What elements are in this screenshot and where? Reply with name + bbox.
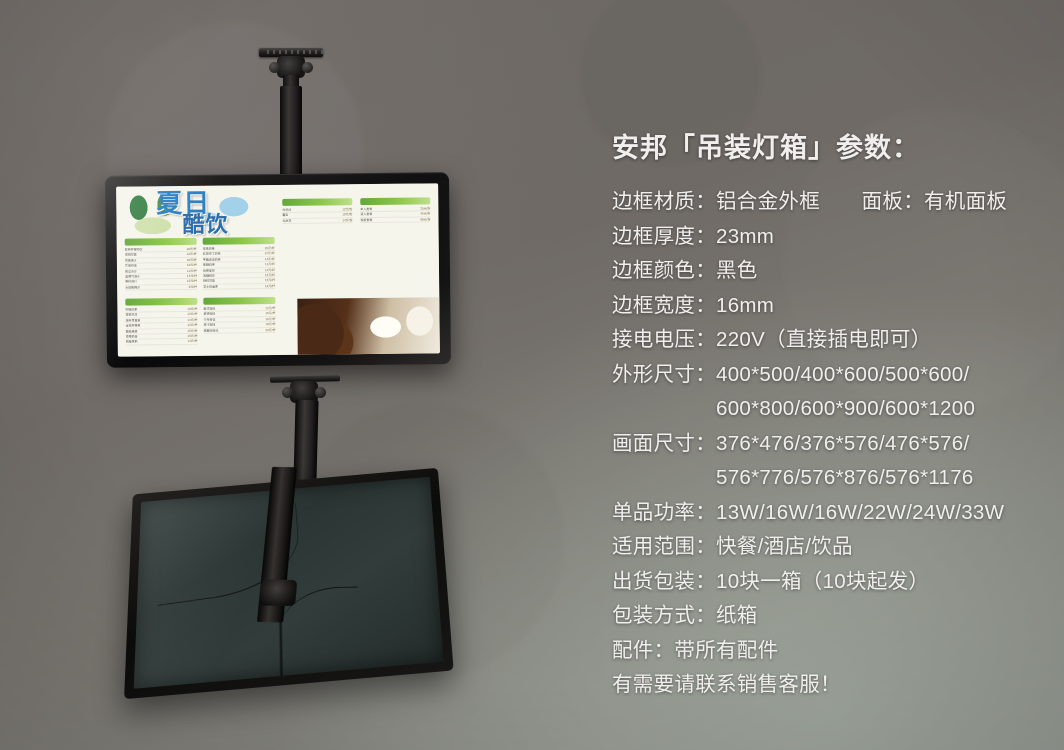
menu-item-name: 葡萄果茶 <box>126 329 138 334</box>
menu-item-price: 10元/杯 <box>187 258 197 263</box>
menu-item-price: 15元/杯 <box>265 311 275 316</box>
menu-item-name: 抹茶拿铁 <box>203 268 215 273</box>
spec-line: 外形尺寸：400*500/400*600/500*600/ <box>612 358 1042 393</box>
specification-block: 安邦「吊装灯箱」参数： 边框材质：铝合金外框 面板：有机面板边框厚度：23mm边… <box>612 126 1042 703</box>
menu-item-name: 芒果奶昔 <box>125 264 137 269</box>
lower-pivot-knob-left <box>282 387 293 398</box>
ceiling-mount-upper <box>255 48 327 188</box>
menu-item-name: 卡布奇诺 <box>203 317 215 322</box>
menu-item-price: 12元/杯 <box>265 251 275 256</box>
spec-line-list: 边框材质：铝合金外框 面板：有机面板边框厚度：23mm边框颜色：黑色边框宽度：1… <box>612 185 1042 703</box>
menu-section: 柠檬红茶10元/杯蜜桃乌龙12元/杯满杯百香果14元/杯金桔柠檬茶12元/杯葡萄… <box>125 298 197 346</box>
light-box-front: 夏日 酷饮 鲜榨柠檬特饮10元/杯蜜桃甘露12元/杯百香果汁10元/杯芒果奶昔1… <box>105 172 451 368</box>
menu-section: 美式咖啡12元/杯拿铁咖啡15元/杯卡布奇诺16元/杯摩卡咖啡18元/杯焦糖玛奇… <box>203 297 275 334</box>
menu-item-row: 鸡米花14元/份 <box>282 218 352 224</box>
pivot-knob-left <box>269 62 280 73</box>
menu-item-price: 12元/杯 <box>187 312 197 317</box>
menu-item-price: 10元/份 <box>342 213 352 218</box>
menu-hero-title-line2: 酷饮 <box>182 213 271 236</box>
spec-line: 边框材质：铝合金外框 面板：有机面板 <box>612 185 1042 220</box>
menu-item-name: 鲜榨柠檬特饮 <box>125 247 143 252</box>
mount-plate-holes-icon <box>267 50 323 54</box>
light-box-back-panel <box>124 468 454 699</box>
menu-item-row: 冰镇酸梅汤9元/杯 <box>125 285 197 291</box>
spec-line: 单品功率：13W/16W/16W/22W/24W/33W <box>612 496 1042 531</box>
spec-line: 画面尺寸：376*476/376*576/476*576/ <box>612 427 1042 462</box>
menu-item-price: 14元/杯 <box>265 257 275 262</box>
menu-item-price: 9元/杯 <box>189 285 198 289</box>
spec-line: 600*800/600*900/600*1200 <box>612 392 1042 427</box>
menu-item-price: 16元/杯 <box>265 284 275 289</box>
spec-title: 安邦「吊装灯箱」参数： <box>612 126 1042 165</box>
menu-item-name: 百香果汁 <box>125 258 137 263</box>
menu-item-name: 单人套餐 <box>360 207 372 212</box>
menu-section: 珍珠奶茶10元/杯红豆布丁奶茶12元/杯芋圆波波奶茶14元/杯焦糖奶茶11元/杯… <box>203 237 276 290</box>
menu-item-name: 芝士奶盖茶 <box>203 284 218 289</box>
menu-item-row: 芝士奶盖茶16元/杯 <box>203 284 275 290</box>
menu-item-name: 草莓奶昔 <box>126 335 138 340</box>
menu-item-price: 10元/杯 <box>187 307 197 312</box>
menu-item-price: 14元/份 <box>342 218 352 223</box>
menu-item-name: 冰镇酸梅汤 <box>125 285 140 290</box>
menu-item-price: 12元/杯 <box>187 252 197 257</box>
spec-line: 包装方式：纸箱 <box>612 599 1042 634</box>
menu-item-price: 16元/杯 <box>187 334 197 339</box>
menu-item-row: 家庭套餐68元/份 <box>360 217 430 223</box>
menu-item-price: 10元/杯 <box>187 247 197 252</box>
menu-item-price: 11元/杯 <box>187 268 197 273</box>
menu-item-name: 炸鸡块 <box>282 208 291 213</box>
menu-item-price: 14元/杯 <box>187 274 197 279</box>
spec-line: 配件：带所有配件 <box>612 634 1042 669</box>
menu-item-name: 焦糖玛奇朵 <box>204 328 219 333</box>
menu-item-price: 12元/杯 <box>187 323 197 328</box>
product-photo-stage: 夏日 酷饮 鲜榨柠檬特饮10元/杯蜜桃甘露12元/杯百香果汁10元/杯芒果奶昔1… <box>0 0 1064 750</box>
menu-item-price: 25元/份 <box>420 206 430 211</box>
menu-item-price: 13元/杯 <box>187 263 197 268</box>
menu-section: 鲜榨柠檬特饮10元/杯蜜桃甘露12元/杯百香果汁10元/杯芒果奶昔13元/杯西瓜… <box>125 238 198 291</box>
menu-item-row: 焦糖玛奇朵20元/杯 <box>204 328 276 334</box>
menu-item-row: 西柚茉莉14元/杯 <box>126 339 198 345</box>
menu-item-name: 摩卡咖啡 <box>204 323 216 328</box>
menu-item-price: 11元/杯 <box>265 262 275 267</box>
menu-section: 单人套餐25元/份双人套餐45元/份家庭套餐68元/份 <box>360 197 430 223</box>
back-panel-clamp <box>259 579 297 606</box>
menu-item-price: 16元/杯 <box>265 317 275 322</box>
menu-coffee-photo <box>297 297 440 354</box>
menu-item-price: 18元/杯 <box>265 322 275 327</box>
spec-line: 边框厚度：23mm <box>612 220 1042 255</box>
menu-item-name: 薯条 <box>282 213 288 217</box>
menu-item-name: 双人套餐 <box>360 212 372 217</box>
menu-item-name: 满杯百香果 <box>125 318 140 323</box>
menu-section-header <box>203 237 275 245</box>
menu-item-name: 家庭套餐 <box>360 218 372 223</box>
pivot-knob-right <box>302 62 313 73</box>
menu-item-price: 14元/杯 <box>187 318 197 323</box>
spec-line: 边框颜色：黑色 <box>612 254 1042 289</box>
menu-artwork: 夏日 酷饮 鲜榨柠檬特饮10元/杯蜜桃甘露12元/杯百香果汁10元/杯芒果奶昔1… <box>116 183 440 356</box>
spec-line: 576*776/576*876/576*1176 <box>612 461 1042 496</box>
menu-item-price: 68元/份 <box>420 217 430 222</box>
menu-item-price: 12元/杯 <box>187 279 197 284</box>
menu-item-name: 美式咖啡 <box>203 307 215 312</box>
menu-item-name: 鸡米花 <box>282 219 291 224</box>
menu-item-price: 14元/杯 <box>188 339 198 344</box>
menu-item-name: 蜜桃乌龙 <box>125 313 137 318</box>
menu-item-name: 金桔柠檬茶 <box>126 324 141 329</box>
menu-item-name: 西柚茉莉 <box>126 340 138 345</box>
menu-hero-title: 夏日 酷饮 <box>156 191 271 234</box>
menu-section-header <box>360 197 430 205</box>
menu-item-name: 红豆布丁奶茶 <box>203 252 221 257</box>
menu-section-header <box>282 198 352 206</box>
menu-item-name: 黑糖鲜奶 <box>203 274 215 279</box>
menu-item-name: 青柠苏打 <box>125 280 137 285</box>
menu-item-name: 柠檬红茶 <box>125 307 137 312</box>
light-box-panel: 夏日 酷饮 鲜榨柠檬特饮10元/杯蜜桃甘露12元/杯百香果汁10元/杯芒果奶昔1… <box>116 183 440 356</box>
menu-item-price: 14元/杯 <box>265 268 275 273</box>
menu-item-price: 12元/份 <box>342 207 352 212</box>
menu-item-name: 芋圆波波奶茶 <box>203 257 221 262</box>
menu-section-header <box>125 238 197 246</box>
menu-item-price: 13元/杯 <box>265 273 275 278</box>
menu-item-price: 12元/杯 <box>265 306 275 311</box>
menu-item-name: 蜜桃甘露 <box>125 253 137 258</box>
spec-line: 接电电压：220V（直接插电即可） <box>612 323 1042 358</box>
spec-line: 适用范围：快餐/酒店/饮品 <box>612 530 1042 565</box>
menu-item-name: 拿铁咖啡 <box>203 312 215 317</box>
menu-item-name: 珍珠奶茶 <box>203 247 215 252</box>
menu-item-price: 15元/杯 <box>265 278 275 283</box>
menu-item-price: 20元/杯 <box>265 328 275 333</box>
menu-item-name: 西瓜冰沙 <box>125 269 137 274</box>
menu-item-name: 杨枝甘露 <box>203 279 215 284</box>
menu-item-name: 焦糖奶茶 <box>203 263 215 268</box>
menu-section: 炸鸡块12元/份薯条10元/份鸡米花14元/份 <box>282 198 352 224</box>
menu-item-price: 15元/杯 <box>187 328 197 333</box>
menu-item-price: 10元/杯 <box>265 246 275 251</box>
lower-pivot-knob-right <box>315 387 326 398</box>
menu-section-header <box>203 297 275 305</box>
spec-line: 出货包装：10块一箱（10块起发） <box>612 565 1042 600</box>
menu-item-name: 蓝莓气泡水 <box>125 274 140 279</box>
spec-line: 边框宽度：16mm <box>612 289 1042 324</box>
spec-line: 有需要请联系销售客服！ <box>612 668 1042 703</box>
menu-item-price: 45元/份 <box>420 212 430 217</box>
menu-section-header <box>125 298 197 306</box>
